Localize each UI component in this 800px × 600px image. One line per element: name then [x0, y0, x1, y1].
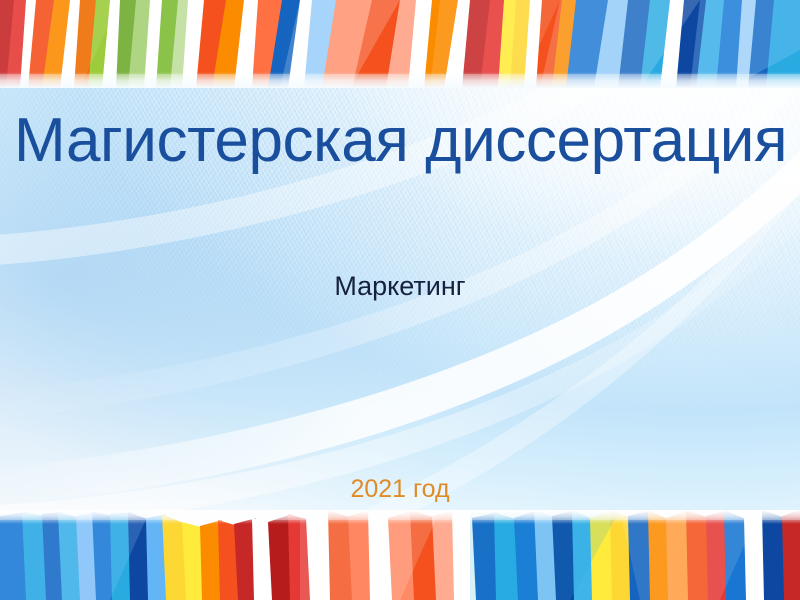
slide-year: 2021 год — [0, 474, 800, 504]
bottom-decorative-band — [0, 510, 800, 600]
slide-subtitle: Маркетинг — [0, 270, 800, 302]
top-decorative-band — [0, 0, 800, 88]
bottom-shard-graphic — [0, 510, 800, 600]
presentation-slide: Магистерская диссертация Маркетинг 2021 … — [0, 0, 800, 600]
top-shard-graphic — [0, 0, 800, 88]
slide-title: Магистерская диссертация — [14, 108, 800, 173]
